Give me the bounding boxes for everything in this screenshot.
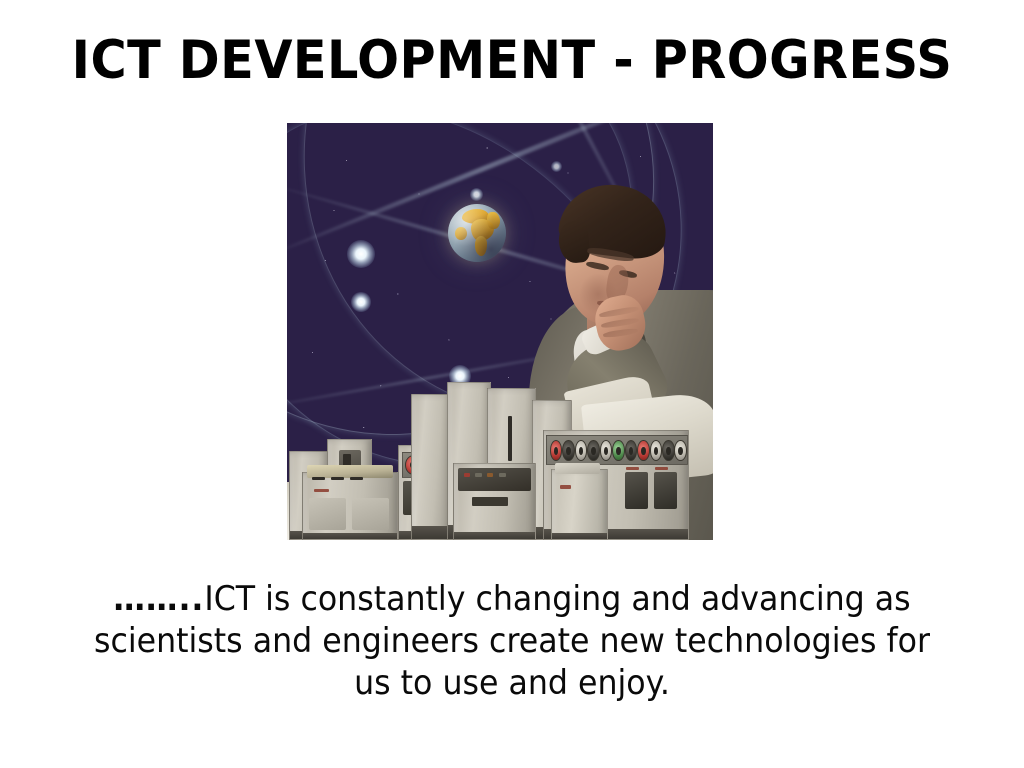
tape-reel [637, 440, 650, 461]
sorter-slot [350, 477, 363, 480]
hair-sideburn [557, 220, 591, 265]
cabinet-vent [508, 416, 512, 461]
tape-reel [575, 440, 588, 461]
reel-hub [629, 447, 634, 455]
body-sentence: ICT is constantly changing and advancing… [94, 579, 930, 703]
cabinet-door [352, 498, 389, 530]
card-sorter [302, 472, 398, 540]
reel-hub [554, 447, 559, 455]
console-panel [458, 468, 531, 491]
sorter-slot [331, 477, 344, 480]
reel-hub [654, 447, 659, 455]
console-light [475, 473, 481, 478]
tape-reel [662, 440, 675, 461]
mainframe-computer-row [287, 390, 713, 540]
cabinet-base [303, 533, 397, 539]
tape-reel [600, 440, 613, 461]
processor-cabinet [411, 394, 451, 540]
brand-plate [560, 485, 571, 488]
reel-hub [579, 447, 584, 455]
reel-hub [566, 447, 571, 455]
reel-hub [591, 447, 596, 455]
tape-reel [550, 440, 563, 461]
reel-hub [616, 447, 621, 455]
tape-reel [562, 440, 575, 461]
operator-console [453, 463, 536, 540]
drive-window [625, 472, 648, 509]
brand-plate [314, 489, 329, 492]
page-title: ICT DEVELOPMENT - PROGRESS [36, 30, 988, 92]
reel-hub [641, 447, 646, 455]
console-light [487, 473, 493, 478]
console-light [464, 473, 470, 478]
body-text: ……..ICT is constantly changing and advan… [92, 578, 933, 704]
illustration-image [287, 123, 713, 540]
cabinet-base [412, 526, 450, 539]
sorter-slot [312, 477, 325, 480]
tape-reel [674, 440, 687, 461]
reel-bay [546, 435, 687, 465]
slide: ICT DEVELOPMENT - PROGRESS [0, 0, 1024, 768]
console-keyboard [472, 497, 508, 506]
cabinet-base [454, 532, 535, 539]
tape-reel [612, 440, 625, 461]
front-console [551, 469, 608, 540]
leading-dots: …….. [113, 579, 204, 619]
reel-hub [666, 447, 671, 455]
cabinet-base [552, 533, 607, 539]
drive-window [654, 472, 677, 509]
cabinet-door [309, 498, 346, 530]
console-light [499, 473, 505, 478]
reel-hub [678, 447, 683, 455]
console-top [555, 463, 599, 474]
tape-reel [587, 440, 600, 461]
tape-reel [625, 440, 638, 461]
brand-plate [655, 467, 668, 471]
tape-reel [650, 440, 663, 461]
brand-plate [626, 467, 639, 471]
reel-hub [604, 447, 609, 455]
